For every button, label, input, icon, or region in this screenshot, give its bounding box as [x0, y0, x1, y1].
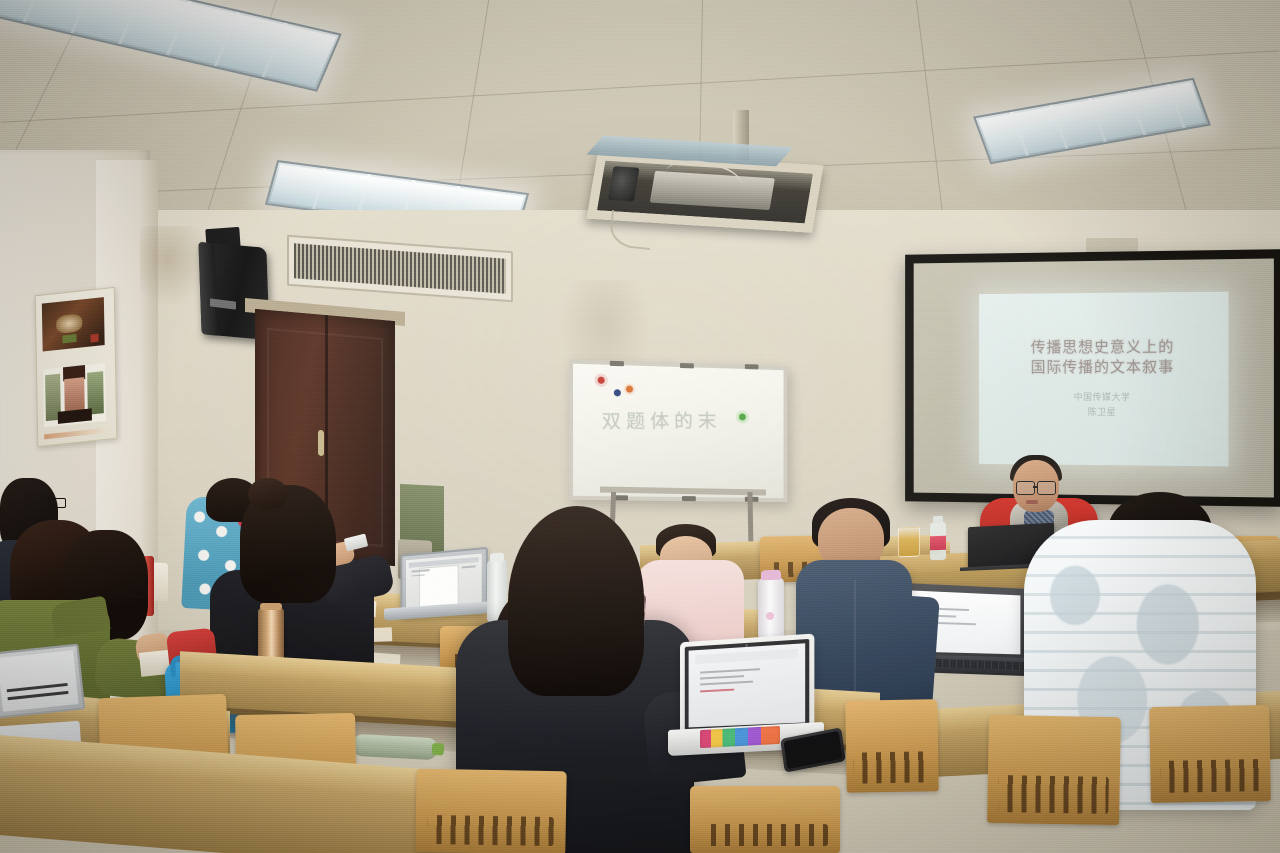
- chair[interactable]: [415, 769, 566, 853]
- whiteboard: 双题体的末: [569, 359, 787, 502]
- student-hair: [508, 506, 644, 696]
- student-hair-bun: [248, 478, 288, 510]
- magnet-red: [598, 377, 605, 384]
- slide-title: 传播思想史意义上的 国际传播的文本叙事: [979, 336, 1228, 377]
- slide-subtitle: 中国传媒大学 陈卫星: [979, 391, 1228, 422]
- whiteboard-handwriting: 双题体的末: [601, 406, 721, 433]
- glasses-bridge-icon: [1033, 486, 1038, 488]
- chair[interactable]: [1149, 705, 1271, 803]
- student-arm: [880, 594, 940, 707]
- pink-water-bottle: [758, 578, 784, 641]
- presenter-glasses: [1037, 481, 1056, 495]
- tea-glass: [898, 527, 920, 558]
- student-glasses: [48, 498, 66, 508]
- laptop-edge[interactable]: [0, 644, 85, 719]
- presentation-slide: 传播思想史意义上的 国际传播的文本叙事 中国传媒大学 陈卫星: [979, 292, 1228, 467]
- door-handle[interactable]: [318, 430, 324, 457]
- wall-poster: [35, 287, 118, 447]
- chair[interactable]: [690, 786, 840, 853]
- student-glasses: [126, 586, 148, 597]
- magnet-blue: [614, 389, 621, 396]
- chair[interactable]: [987, 715, 1121, 825]
- magnet-orange: [626, 385, 633, 392]
- laptop-logo: [976, 530, 998, 537]
- projection-screen: 传播思想史意义上的 国际传播的文本叙事 中国传媒大学 陈卫星: [905, 249, 1280, 507]
- chair[interactable]: [845, 699, 939, 793]
- white-macbook-screen[interactable]: [680, 634, 814, 737]
- presenter-glasses: [1016, 481, 1035, 495]
- webcam-icon: [745, 644, 748, 647]
- water-bottle: [930, 522, 946, 561]
- presenter-mouth: [1026, 500, 1038, 504]
- magnet-green: [739, 413, 746, 420]
- plastic-bottle: [351, 734, 438, 760]
- classroom-photo: 传播思想史意义上的 国际传播的文本叙事 中国传媒大学 陈卫星 双题体的末: [0, 0, 1280, 853]
